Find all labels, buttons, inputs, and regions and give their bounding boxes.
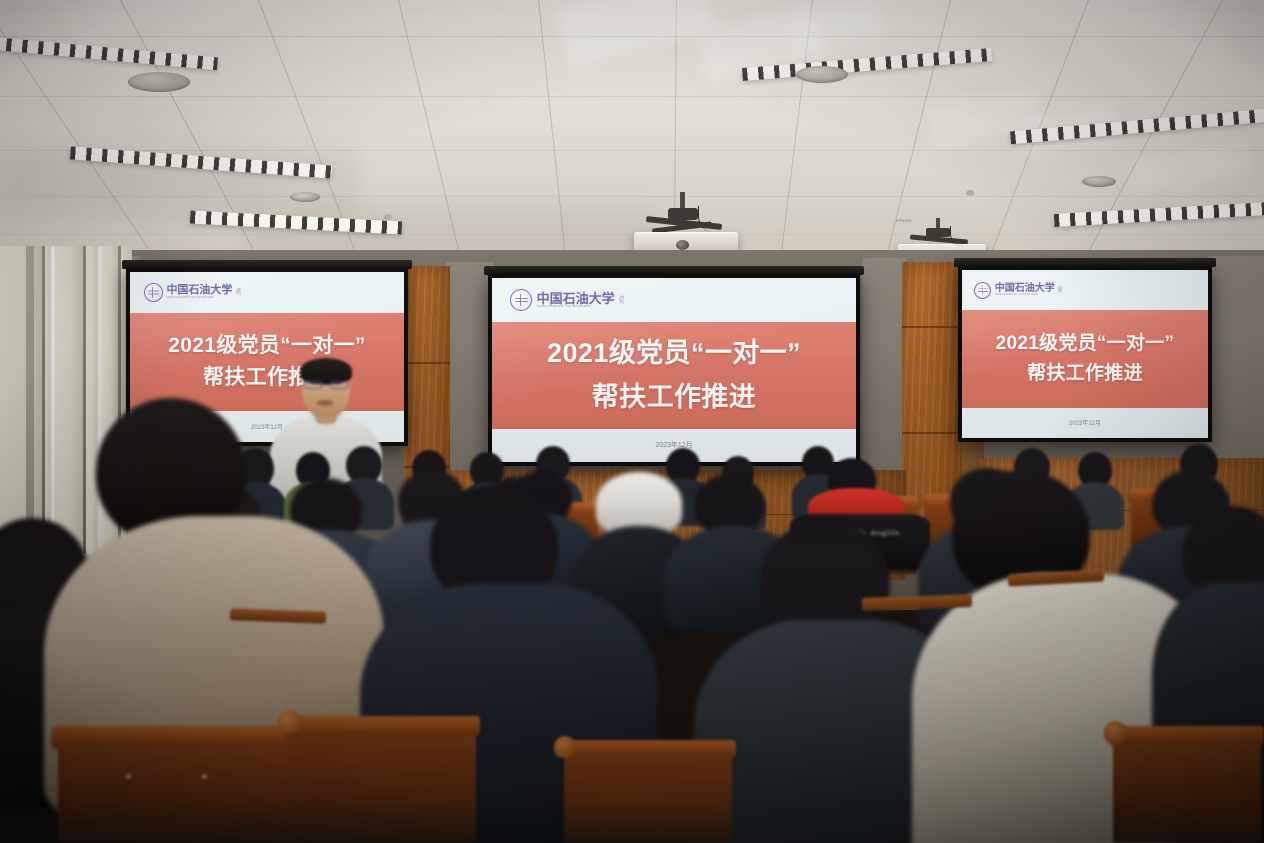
university-logo: 中国石油大学 CHINA UNIVERSITY OF PETROLEUM (华东…	[510, 289, 621, 311]
university-seal-icon	[510, 289, 532, 311]
projector-brand-label: EPSON	[896, 218, 912, 223]
logo-chinese-suffix: (华东)	[236, 289, 241, 296]
logo-english-name: CHINA UNIVERSITY OF PETROLEUM	[995, 294, 1055, 296]
slide-right: 中国石油大学 CHINA UNIVERSITY OF PETROLEUM (华东…	[962, 270, 1208, 438]
slide-title-band: 2021级党员“一对一” 帮扶工作推进	[962, 310, 1208, 407]
wooden-auditorium-chair	[286, 716, 480, 843]
slide-header: 中国石油大学 CHINA UNIVERSITY OF PETROLEUM (华东…	[492, 278, 856, 322]
slide-title-line-2: 帮扶工作推进	[1027, 363, 1143, 385]
slide-date: 2023年12月	[1069, 418, 1101, 427]
logo-chinese-suffix: (华东)	[619, 296, 624, 304]
slide-title-line-2: 帮扶工作推进	[592, 382, 756, 414]
slide-center: 中国石油大学 CHINA UNIVERSITY OF PETROLEUM (华东…	[492, 278, 856, 462]
louvered-light-troffer	[0, 37, 218, 71]
university-logo: 中国石油大学 CHINA UNIVERSITY OF PETROLEUM (华东…	[974, 282, 1060, 299]
presenter-glasses-icon	[304, 381, 348, 389]
slide-title-line-1: 2021级党员“一对一”	[547, 338, 801, 370]
louvered-light-troffer	[1054, 202, 1264, 227]
logo-chinese-name: 中国石油大学	[537, 292, 615, 305]
slide-header: 中国石油大学 CHINA UNIVERSITY OF PETROLEUM (华东…	[130, 272, 404, 313]
sprinkler-head	[966, 190, 974, 196]
slide-title-line-1: 2021级党员“一对一”	[168, 334, 366, 359]
slide-header: 中国石油大学 CHINA UNIVERSITY OF PETROLEUM (华东…	[962, 270, 1208, 310]
center-projection-screen[interactable]: 中国石油大学 CHINA UNIVERSITY OF PETROLEUM (华东…	[488, 274, 860, 466]
university-seal-icon	[144, 283, 163, 302]
wooden-auditorium-chair	[1110, 726, 1264, 843]
wall-pillar	[26, 246, 34, 556]
logo-english-name: CHINA UNIVERSITY OF PETROLEUM	[166, 297, 232, 300]
wooden-auditorium-chair	[560, 740, 736, 843]
ceiling-speaker-dome	[290, 192, 320, 202]
university-logo: 中国石油大学 CHINA UNIVERSITY OF PETROLEUM (华东…	[144, 283, 238, 302]
slide-title-line-1: 2021级党员“一对一”	[996, 333, 1175, 355]
photo-scene: EPSON	[0, 0, 1264, 843]
logo-chinese-suffix: (华东)	[1058, 287, 1062, 293]
ceiling-speaker-dome	[1082, 176, 1116, 187]
ceiling-speaker-dome	[796, 66, 848, 83]
right-projection-screen[interactable]: 中国石油大学 CHINA UNIVERSITY OF PETROLEUM (华东…	[958, 266, 1212, 442]
sprinkler-head	[384, 214, 392, 220]
logo-chinese-name: 中国石油大学	[166, 285, 232, 296]
slide-footer: 2023年12月	[962, 408, 1208, 438]
ceiling-speaker-dome	[128, 72, 190, 92]
slide-title-band: 2021级党员“一对一” 帮扶工作推进	[492, 322, 856, 429]
university-seal-icon	[974, 282, 991, 299]
